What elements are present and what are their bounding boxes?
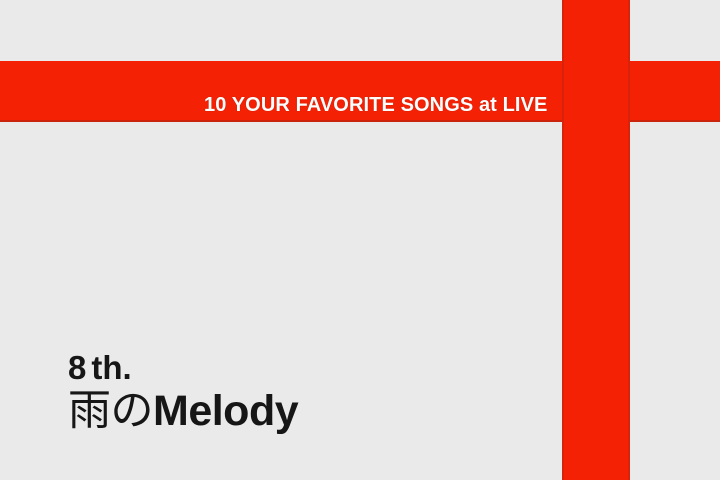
song-title-japanese: 雨の	[68, 386, 153, 436]
song-rank: 8th.	[68, 350, 298, 386]
title-card-frame: 10 YOUR FAVORITE SONGS at LIVE 8th. 雨のMe…	[0, 0, 720, 480]
vertical-red-bar	[562, 0, 630, 480]
song-rank-number: 8	[68, 349, 86, 386]
song-title: 雨のMelody	[68, 387, 298, 435]
song-title-latin: Melody	[153, 387, 298, 435]
show-title: 10 YOUR FAVORITE SONGS at LIVE	[204, 93, 547, 117]
song-rank-suffix: th.	[91, 349, 131, 386]
song-info-block: 8th. 雨のMelody	[68, 350, 298, 435]
